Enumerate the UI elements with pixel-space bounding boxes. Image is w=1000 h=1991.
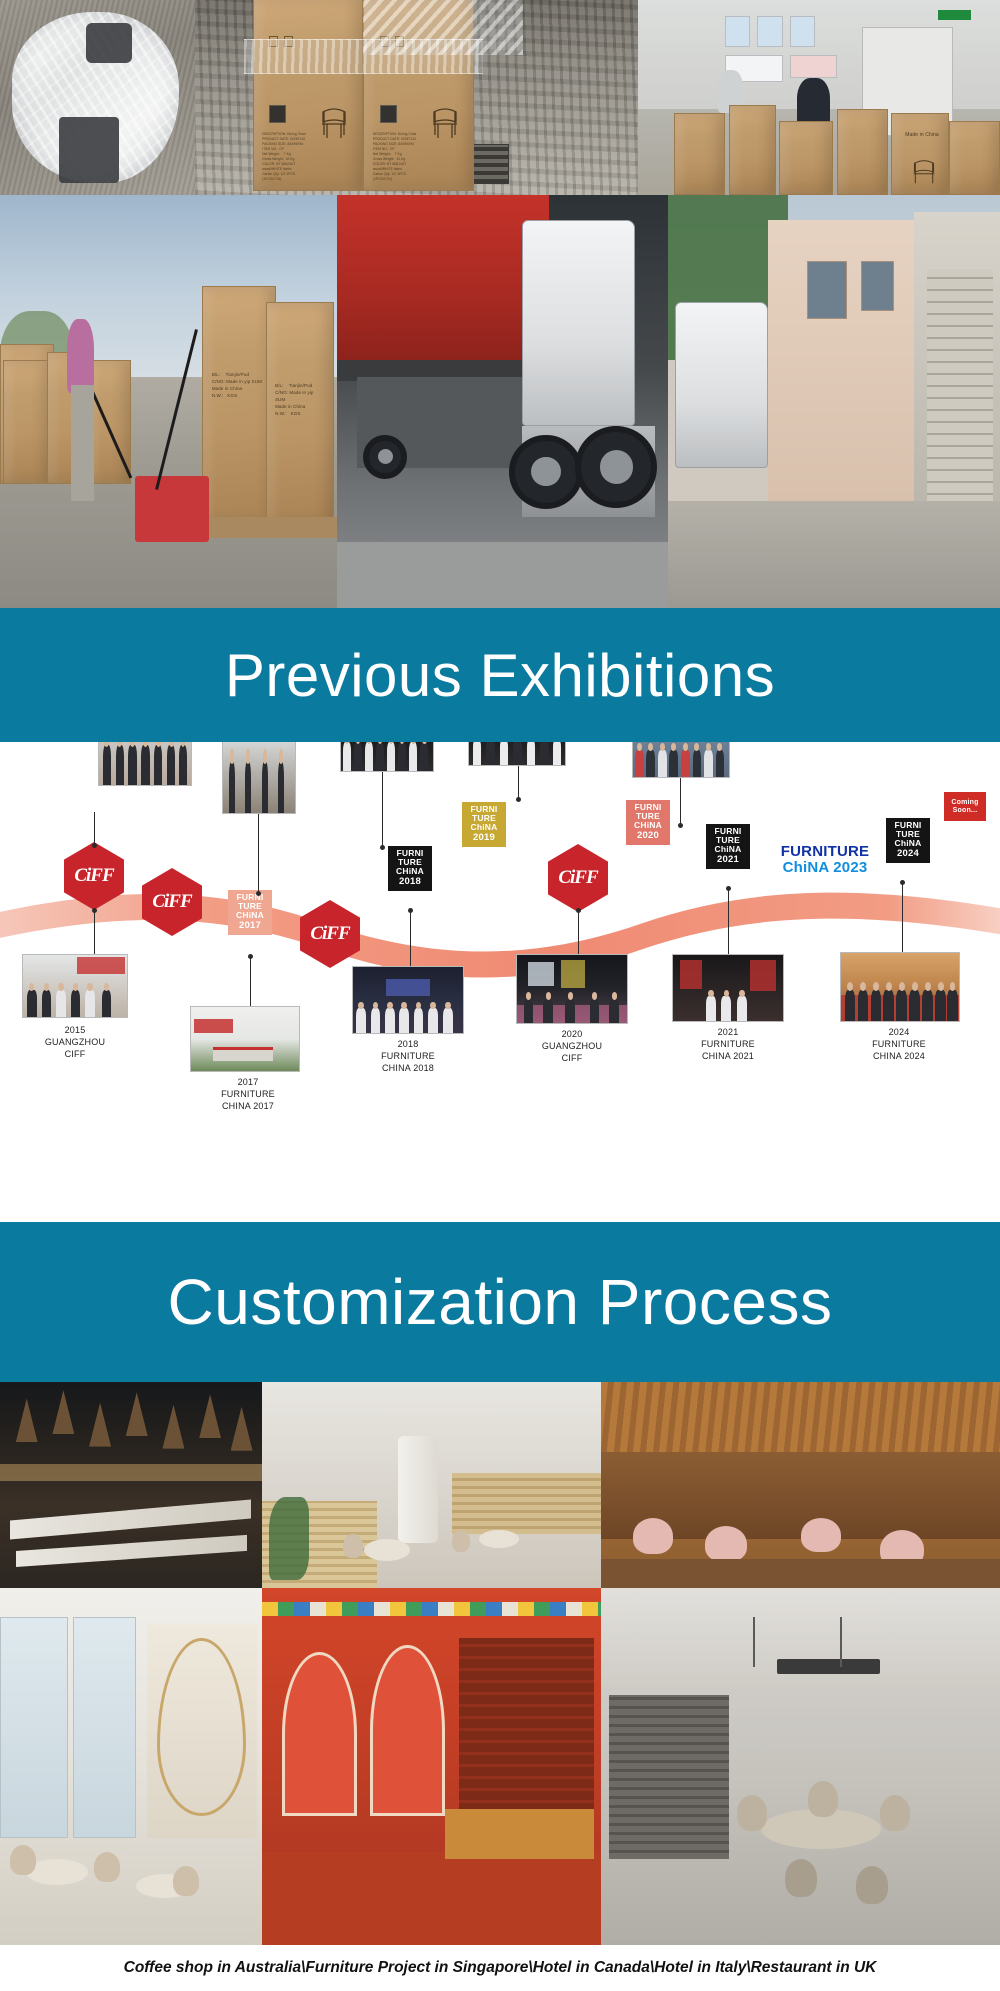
- photo-2017-guangzhou-ciff: [222, 742, 296, 814]
- photo-2023-furniture-china: JUNCHENG: [632, 742, 730, 778]
- photo-pallet-handtruck-yard: B/L: Tianjin/PudC/NO: Made in yip SUMMad…: [0, 195, 337, 608]
- packing-photo-strip: DESCRIPTION: Dining ChairPRODUCT DATE: 0…: [0, 0, 1000, 195]
- photo-restaurant-uk: [601, 1588, 1000, 1945]
- badge-furniture-china-2017: FURNI TURE CHiNA 2017: [228, 890, 272, 935]
- photo-factory-gate-truck: [668, 195, 1000, 608]
- stem-2023: [680, 778, 681, 826]
- fc2024-year: 2024: [888, 849, 928, 859]
- project-caption: Coffee shop in Australia\Furniture Proje…: [0, 1945, 1000, 1991]
- badge-coming-soon: Coming Soon...: [944, 792, 986, 821]
- stem-2015: [94, 910, 95, 954]
- label-2024: 2024 FURNITURE CHINA 2024: [836, 1026, 962, 1062]
- photo-lobby-singapore: [262, 1382, 601, 1588]
- banner-previous-exhibitions-title: Previous Exhibitions: [225, 641, 775, 710]
- fc2021-year: 2021: [708, 855, 748, 865]
- exhibition-timeline: CiFF CiFF FURNI TURE CHiNA 2017 CiFF FUR…: [0, 742, 1000, 1222]
- photo-2024-furniture-china: [840, 952, 960, 1022]
- label-2020-ciff: 2020 GUANGZHOU CIFF: [512, 1028, 632, 1064]
- stem-2017-ciff: [258, 814, 259, 894]
- stem-2016: [94, 812, 95, 846]
- badge-ciff-2020-label: CiFF: [558, 867, 597, 889]
- photo-2017-furniture-china: [190, 1006, 300, 1072]
- fc2020-year: 2020: [628, 831, 668, 841]
- label-2017-fc: 2017 FURNITURE CHINA 2017: [188, 1076, 308, 1112]
- photo-hotel-canada: [601, 1382, 1000, 1588]
- banner-customization-process: Customization Process: [0, 1222, 1000, 1382]
- label-2021: 2021 FURNITURE CHINA 2021: [668, 1026, 788, 1062]
- fc2021-l3: ChiNA: [715, 844, 742, 854]
- fc2018-year: 2018: [390, 877, 430, 887]
- fc2019-l3: ChiNA: [471, 822, 498, 832]
- fc2018-l3: CHiNA: [396, 866, 424, 876]
- badge-ciff-2015-label: CiFF: [74, 865, 113, 887]
- coming-l1: Coming: [951, 799, 978, 806]
- stem-2020-ciff: [578, 910, 579, 954]
- photo-2015-guangzhou-ciff: [22, 954, 128, 1018]
- coming-l2: Soon...: [953, 807, 978, 814]
- photo-factory-packing: Made in China: [638, 0, 1000, 195]
- fc2023-l1: FURNITURE: [781, 843, 869, 860]
- photo-2021-furniture-china: [672, 954, 784, 1022]
- project-caption-text: Coffee shop in Australia\Furniture Proje…: [124, 1959, 877, 1977]
- stem-2017-fc: [250, 956, 251, 1006]
- stem-2019: [382, 770, 383, 848]
- photo-2020-furniture-china: JUNCHENG: [468, 742, 566, 766]
- stem-2021: [728, 888, 729, 954]
- fc2019-year: 2019: [464, 833, 504, 843]
- stem-2020-fc: [518, 764, 519, 800]
- badge-furniture-china-2018: FURNI TURE CHiNA 2018: [388, 846, 432, 891]
- photo-stacked-cartons: DESCRIPTION: Dining ChairPRODUCT DATE: 0…: [195, 0, 638, 195]
- badge-furniture-china-2021: FURNI TURE ChiNA 2021: [706, 824, 750, 869]
- photo-2016-guangzhou-ciff: [98, 742, 192, 786]
- photo-hotel-italy: [0, 1588, 262, 1945]
- photo-restaurant-australia: [0, 1382, 262, 1588]
- label-2015: 2015 GUANGZHOU CIFF: [15, 1024, 135, 1060]
- stem-2018: [410, 910, 411, 966]
- fc2017-l3: CHiNA: [236, 910, 264, 920]
- photo-2018-furniture-china: [352, 966, 464, 1034]
- product-detail-page: DESCRIPTION: Dining ChairPRODUCT DATE: 0…: [0, 0, 1000, 1991]
- banner-previous-exhibitions: Previous Exhibitions: [0, 608, 1000, 742]
- photo-2019-furniture-china: JUNCHENG: [340, 742, 434, 772]
- fc2023-l2: ChiNA 2023: [783, 859, 868, 876]
- fc2020-l3: CHiNA: [634, 820, 662, 830]
- badge-furniture-china-2020: FURNI TURE CHiNA 2020: [626, 800, 670, 845]
- photo-red-container-truck: [337, 195, 668, 608]
- fc2024-l3: ChiNA: [895, 838, 922, 848]
- photo-2020-guangzhou-ciff: [516, 954, 628, 1024]
- badge-ciff-2017-label: CiFF: [310, 923, 349, 945]
- logistics-photo-strip: B/L: Tianjin/PudC/NO: Made in yip SUMMad…: [0, 195, 1000, 608]
- fc2017-year: 2017: [230, 921, 270, 931]
- stem-2024: [902, 882, 903, 952]
- label-2018: 2018 FURNITURE CHINA 2018: [348, 1038, 468, 1074]
- photo-bar-mexican: [262, 1588, 601, 1945]
- badge-furniture-china-2019: FURNI TURE ChiNA 2019: [462, 802, 506, 847]
- photo-plastic-wrapped-chairs: [0, 0, 195, 195]
- badge-furniture-china-2024: FURNI TURE ChiNA 2024: [886, 818, 930, 863]
- badge-furniture-china-2023: FURNITURE ChiNA 2023: [766, 838, 884, 882]
- project-photo-grid: [0, 1382, 1000, 1945]
- banner-customization-process-title: Customization Process: [168, 1265, 833, 1339]
- badge-ciff-2016-label: CiFF: [152, 891, 191, 913]
